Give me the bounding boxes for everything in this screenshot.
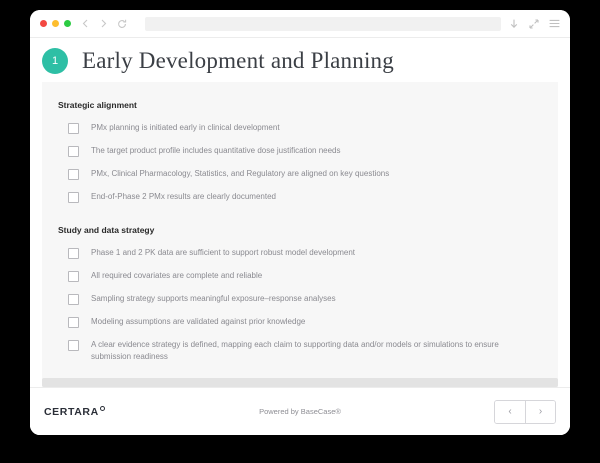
- chevron-right-icon[interactable]: [99, 19, 108, 28]
- horizontal-scrollbar[interactable]: [42, 378, 558, 387]
- browser-chrome: [30, 10, 570, 38]
- hamburger-menu-icon[interactable]: [549, 19, 560, 28]
- reload-icon[interactable]: [117, 19, 127, 29]
- previous-page-button[interactable]: ‹: [495, 401, 525, 423]
- checklist-item[interactable]: Modeling assumptions are validated again…: [58, 316, 542, 328]
- checkbox[interactable]: [68, 123, 79, 134]
- checkbox[interactable]: [68, 169, 79, 180]
- checkbox[interactable]: [68, 317, 79, 328]
- checklist-item-label: Sampling strategy supports meaningful ex…: [91, 293, 336, 305]
- chrome-actions: [509, 19, 560, 29]
- next-page-button[interactable]: ›: [525, 401, 555, 423]
- checklist-item-label: All required covariates are complete and…: [91, 270, 262, 282]
- checklist-item[interactable]: End-of-Phase 2 PMx results are clearly d…: [58, 191, 542, 203]
- page-content: 1 Early Development and Planning Strateg…: [30, 38, 570, 435]
- checkbox[interactable]: [68, 271, 79, 282]
- checkbox[interactable]: [68, 340, 79, 351]
- checklist-item[interactable]: Sampling strategy supports meaningful ex…: [58, 293, 542, 305]
- expand-icon[interactable]: [529, 19, 539, 29]
- checklist-item[interactable]: PMx, Clinical Pharmacology, Statistics, …: [58, 168, 542, 180]
- page-footer: CERTARA Powered by BaseCase® ‹ ›: [30, 387, 570, 435]
- page-header: 1 Early Development and Planning: [30, 38, 570, 82]
- traffic-lights: [40, 20, 71, 27]
- download-icon[interactable]: [509, 19, 519, 29]
- maximize-window-button[interactable]: [64, 20, 71, 27]
- checklist-item[interactable]: Phase 1 and 2 PK data are sufficient to …: [58, 247, 542, 259]
- browser-window: 1 Early Development and Planning Strateg…: [30, 10, 570, 435]
- section-heading-strategic-alignment: Strategic alignment: [58, 100, 542, 110]
- step-number-badge: 1: [42, 48, 68, 74]
- navigation-buttons: [81, 19, 127, 29]
- checklist-panel: Strategic alignment PMx planning is init…: [42, 82, 558, 387]
- section-heading-study-and-data-strategy: Study and data strategy: [58, 225, 542, 235]
- checklist-item[interactable]: The target product profile includes quan…: [58, 145, 542, 157]
- url-input[interactable]: [145, 17, 501, 31]
- checklist-item[interactable]: A clear evidence strategy is defined, ma…: [58, 339, 542, 362]
- checklist-item-label: A clear evidence strategy is defined, ma…: [91, 339, 511, 362]
- pagination-controls: ‹ ›: [494, 400, 556, 424]
- checkbox[interactable]: [68, 146, 79, 157]
- checklist-item[interactable]: All required covariates are complete and…: [58, 270, 542, 282]
- checklist-item-label: PMx planning is initiated early in clini…: [91, 122, 280, 134]
- certara-logo-text: CERTARA: [44, 406, 99, 418]
- certara-logo-circle-icon: [100, 406, 105, 411]
- checkbox[interactable]: [68, 294, 79, 305]
- checkbox[interactable]: [68, 192, 79, 203]
- checklist-item-label: PMx, Clinical Pharmacology, Statistics, …: [91, 168, 389, 180]
- minimize-window-button[interactable]: [52, 20, 59, 27]
- checklist-item-label: The target product profile includes quan…: [91, 145, 340, 157]
- checklist-item[interactable]: PMx planning is initiated early in clini…: [58, 122, 542, 134]
- chevron-left-icon[interactable]: [81, 19, 90, 28]
- checklist-body: Strategic alignment PMx planning is init…: [42, 94, 558, 378]
- checklist-item-label: Phase 1 and 2 PK data are sufficient to …: [91, 247, 355, 259]
- checklist-item-label: End-of-Phase 2 PMx results are clearly d…: [91, 191, 276, 203]
- checkbox[interactable]: [68, 248, 79, 259]
- certara-logo: CERTARA: [44, 406, 105, 418]
- close-window-button[interactable]: [40, 20, 47, 27]
- checklist-item-label: Modeling assumptions are validated again…: [91, 316, 305, 328]
- powered-by-label: Powered by BaseCase®: [30, 407, 570, 416]
- page-title: Early Development and Planning: [82, 48, 394, 74]
